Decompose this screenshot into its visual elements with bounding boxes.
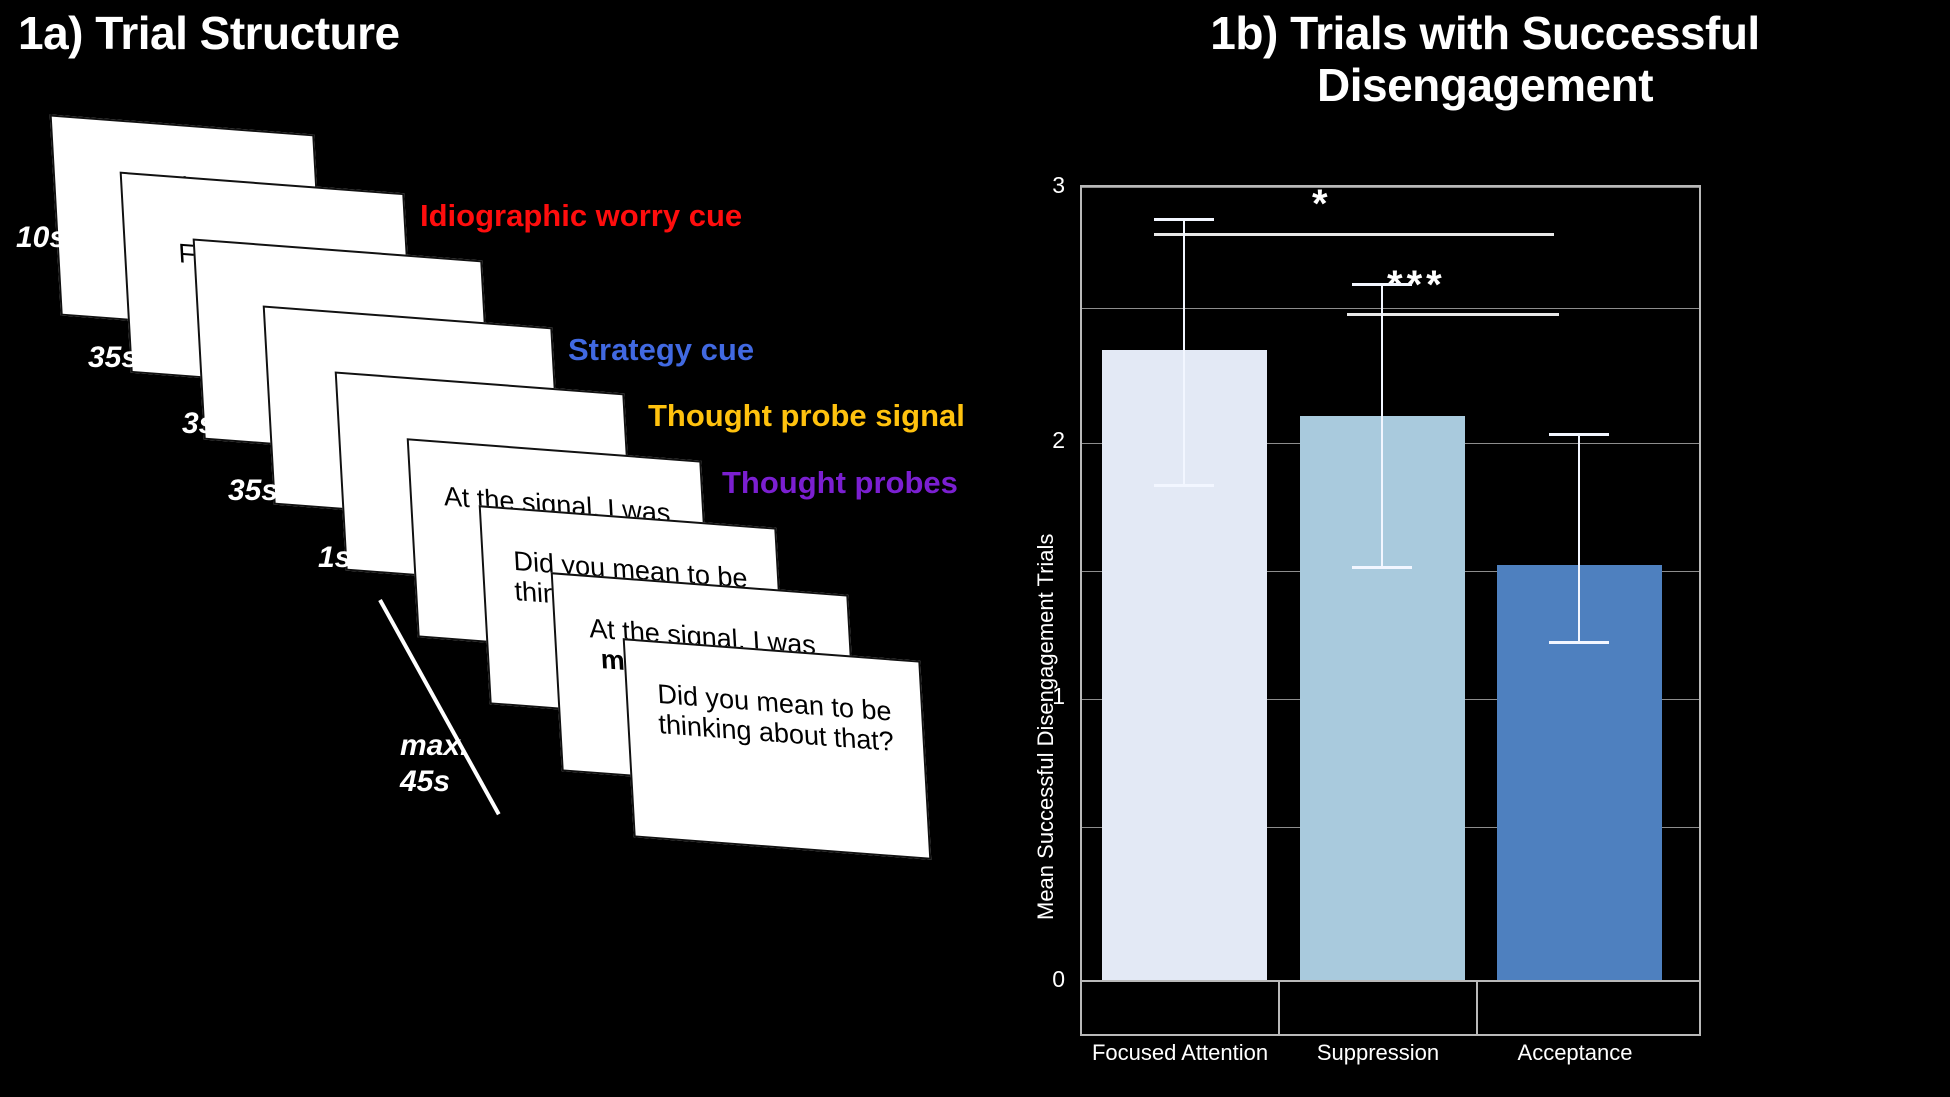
x-tick-label-focused-attention: Focused Attention [1080,1040,1280,1066]
panel-a-title: 1a) Trial Structure [18,8,400,60]
x-axis-divider [1476,982,1478,1034]
error-cap-upper [1549,433,1609,436]
y-tick-label: 0 [1015,966,1065,993]
y-tick-label: 3 [1015,172,1065,199]
significance-star-1: * [1312,182,1332,227]
x-tick-label-acceptance: Acceptance [1475,1040,1675,1066]
x-tick-label-suppression: Suppression [1278,1040,1478,1066]
error-cap-upper [1352,283,1412,286]
x-axis-divider [1278,982,1280,1034]
error-cap-lower [1352,566,1412,569]
error-bar-suppression [1381,283,1383,568]
error-cap-lower [1154,484,1214,487]
x-axis [1080,980,1701,1036]
significance-bracket-1 [1154,233,1554,236]
duration-label: 35s [228,473,278,509]
duration-label: 10s [16,220,66,256]
cue-label-thought-probe-signal: Thought probe signal [648,398,965,434]
panel-b-title: 1b) Trials with Successful Disengagement [1070,8,1900,111]
y-tick-label: 1 [1015,683,1065,710]
figure-root: 1a) Trial Structure 1b) Trials with Succ… [0,0,1950,1097]
error-bar-focused-attention [1183,218,1185,486]
disengagement-bar-chart: Mean Successful Disengagement Trials 3 2… [985,150,1925,1050]
significance-bracket-2 [1347,313,1559,316]
error-bar-acceptance [1578,433,1580,643]
cue-label-strategy: Strategy cue [568,332,754,368]
error-cap-upper [1154,218,1214,221]
cue-label-thought-probes: Thought probes [722,465,958,501]
plot-area: * *** [1080,185,1701,982]
gridline-2.5 [1082,308,1699,309]
y-tick-label: 2 [1015,427,1065,454]
duration-label: 35s [88,340,138,376]
gridline-3 [1082,187,1699,188]
y-axis-label: Mean Successful Disengagement Trials [1033,534,1059,920]
error-cap-lower [1549,641,1609,644]
trial-slide: Did you mean to be thinking about that? [623,638,932,860]
cue-label-idiographic-worry: Idiographic worry cue [420,198,742,234]
duration-label: 3s [182,406,215,442]
duration-label: 1s [318,540,351,576]
